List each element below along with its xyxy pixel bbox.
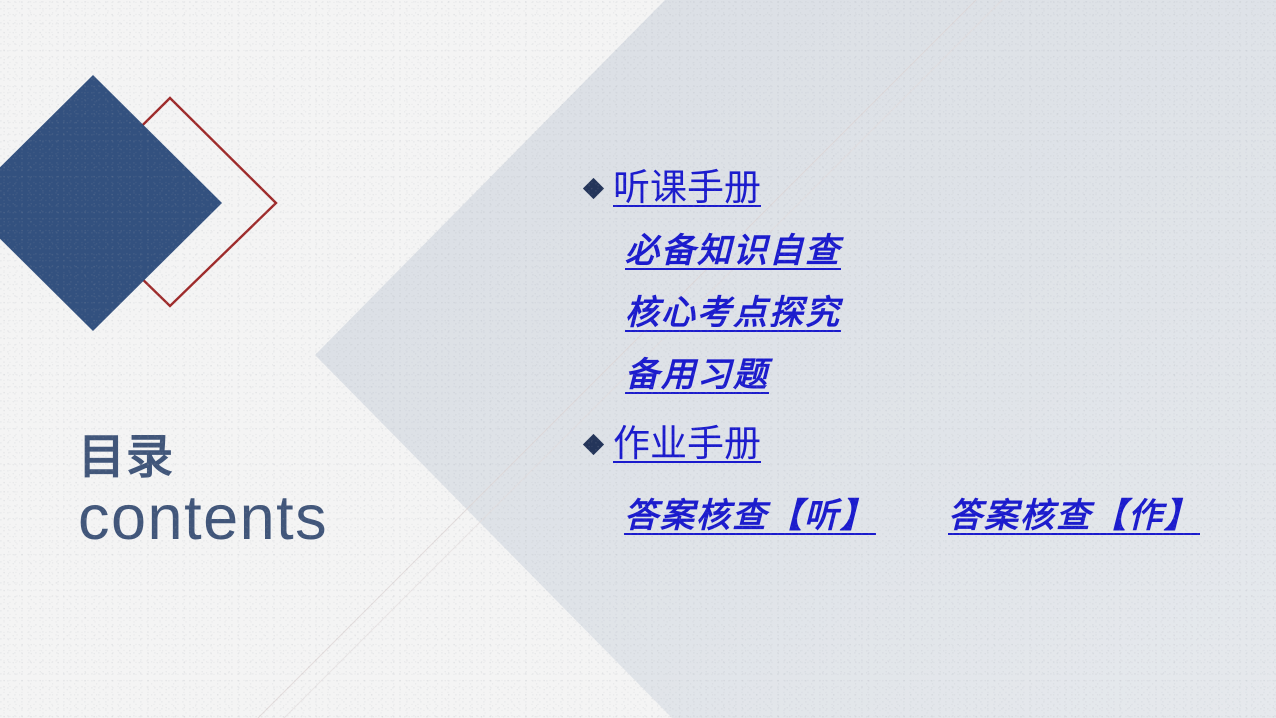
toc-link-listening-manual[interactable]: 听课手册 <box>613 166 761 210</box>
toc-link-spare-exercises[interactable]: 备用习题 <box>625 355 769 395</box>
answer-row-spacer <box>876 496 948 536</box>
navy-diamond <box>0 75 222 331</box>
diamond-bullet-icon <box>583 178 604 199</box>
toc-title-block: 目录 contents <box>78 432 328 551</box>
toc-subitem-row: 备用习题 <box>625 355 1226 395</box>
toc-section-listening[interactable]: 听课手册 <box>586 166 1226 210</box>
toc-link-essential-knowledge-check[interactable]: 必备知识自查 <box>625 231 841 271</box>
page-title-cn: 目录 <box>78 432 328 484</box>
toc-link-answer-check-homework[interactable]: 答案核查【作】 <box>948 496 1200 536</box>
toc-link-core-exam-points[interactable]: 核心考点探究 <box>625 293 841 333</box>
slide-root: 目录 contents 听课手册 必备知识自查 核心考点探究 备用习题 作业手册 <box>0 0 1276 718</box>
toc-link-answer-check-listening[interactable]: 答案核查【听】 <box>624 496 876 536</box>
page-title-en: contents <box>78 485 328 551</box>
toc-link-homework-manual[interactable]: 作业手册 <box>613 422 761 466</box>
toc-subitem-row: 必备知识自查 <box>625 231 1226 271</box>
toc-section-homework[interactable]: 作业手册 <box>586 422 1226 466</box>
table-of-contents: 听课手册 必备知识自查 核心考点探究 备用习题 作业手册 答案核查【听】 答案核… <box>586 166 1226 536</box>
diamond-bullet-icon <box>583 434 604 455</box>
toc-answer-row: 答案核查【听】 答案核查【作】 <box>624 496 1226 536</box>
toc-subitem-row: 核心考点探究 <box>625 293 1226 333</box>
